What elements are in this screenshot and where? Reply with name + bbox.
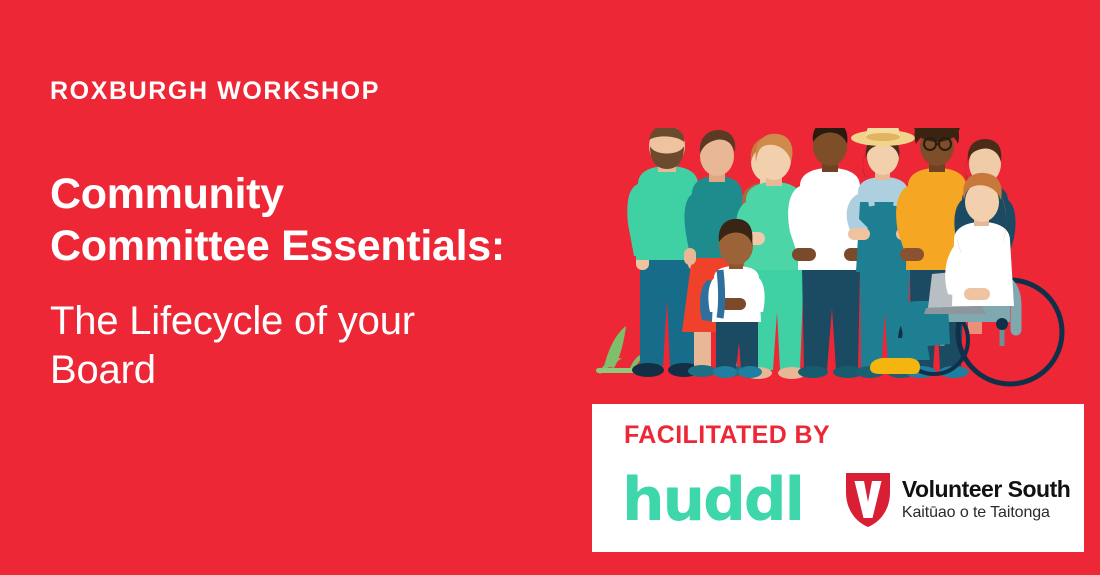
page-subtitle: The Lifecycle of your Board [50,297,570,395]
volunteer-south-tagline: Kaitūao o te Taitonga [902,503,1070,522]
headline-line-1: Community [50,168,570,221]
facilitator-logo-card: FACILITATED BY huddl Volunteer South Kai… [592,404,1084,552]
facilitated-by-label: FACILITATED BY [624,421,830,450]
poster-text-block: ROXBURGH WORKSHOP Community Committee Es… [50,78,570,395]
subhead-line-1: The Lifecycle of your [50,297,570,346]
facilitator-logo-row: huddl Volunteer South Kaitūao o te Taito… [622,460,1066,540]
page-title: Community Committee Essentials: [50,168,570,274]
huddl-logo: huddl [622,470,803,530]
volunteer-south-logo: Volunteer South Kaitūao o te Taitonga [845,472,1070,528]
volunteer-south-name: Volunteer South [902,477,1070,501]
poster-eyebrow: ROXBURGH WORKSHOP [50,78,570,106]
headline-line-2: Committee Essentials: [50,220,570,273]
volunteer-south-wordmark: Volunteer South Kaitūao o te Taitonga [902,477,1070,522]
diverse-group-of-people-illustration [596,128,1076,400]
subhead-line-2: Board [50,346,570,395]
volunteer-south-shield-icon [845,472,891,528]
event-promo-poster: ROXBURGH WORKSHOP Community Committee Es… [0,0,1100,575]
